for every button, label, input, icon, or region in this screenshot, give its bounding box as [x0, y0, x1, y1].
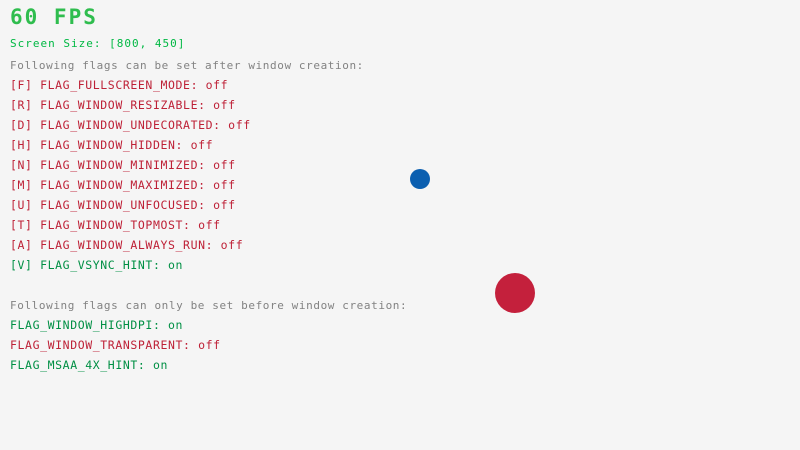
flag-row-window-topmost[interactable]: [T] FLAG_WINDOW_TOPMOST: off	[10, 220, 221, 232]
flag-row-window-unfocused[interactable]: [U] FLAG_WINDOW_UNFOCUSED: off	[10, 200, 236, 212]
flag-row-window-minimized[interactable]: [N] FLAG_WINDOW_MINIMIZED: off	[10, 160, 236, 172]
flag-row-window-hidden[interactable]: [H] FLAG_WINDOW_HIDDEN: off	[10, 140, 213, 152]
flag-row-window-always-run[interactable]: [A] FLAG_WINDOW_ALWAYS_RUN: off	[10, 240, 243, 252]
flag-row-vsync-hint[interactable]: [V] FLAG_VSYNC_HINT: on	[10, 260, 183, 272]
screen-size-label: Screen Size: [800, 450]	[10, 38, 185, 49]
flag-row-msaa-4x-hint: FLAG_MSAA_4X_HINT: on	[10, 360, 168, 372]
flag-row-window-transparent: FLAG_WINDOW_TRANSPARENT: off	[10, 340, 221, 352]
flag-row-window-resizable[interactable]: [R] FLAG_WINDOW_RESIZABLE: off	[10, 100, 236, 112]
application-window: 60 FPS Screen Size: [800, 450] Following…	[0, 0, 800, 450]
creation-flags-header: Following flags can only be set before w…	[10, 300, 407, 311]
red-circle-shape	[495, 273, 535, 313]
blue-circle-shape	[410, 169, 430, 189]
flag-row-fullscreen-mode[interactable]: [F] FLAG_FULLSCREEN_MODE: off	[10, 80, 228, 92]
fps-counter: 60 FPS	[10, 7, 98, 28]
flag-row-window-undecorated[interactable]: [D] FLAG_WINDOW_UNDECORATED: off	[10, 120, 251, 132]
flag-row-window-maximized[interactable]: [M] FLAG_WINDOW_MAXIMIZED: off	[10, 180, 236, 192]
runtime-flags-header: Following flags can be set after window …	[10, 60, 364, 71]
flag-row-window-highdpi: FLAG_WINDOW_HIGHDPI: on	[10, 320, 183, 332]
